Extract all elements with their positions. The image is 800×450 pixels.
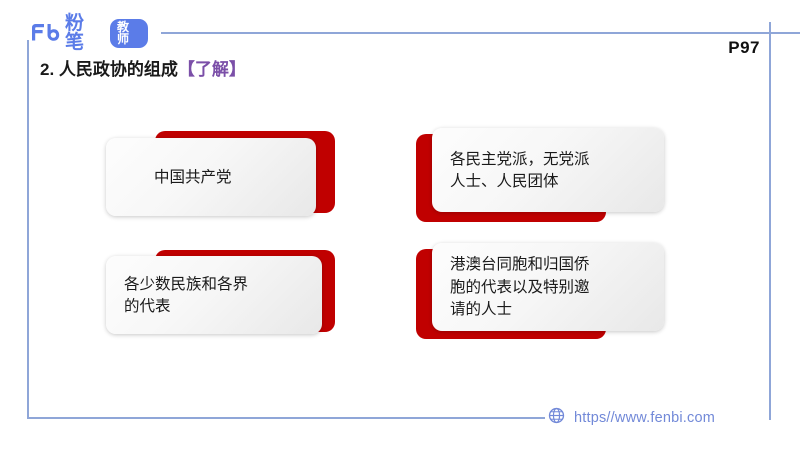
globe-icon [548,407,565,429]
brand-badge: 教师 [110,19,148,48]
title-text: 人民政协的组成 [59,60,178,79]
fb-logo-icon [30,23,60,43]
title-hint: 【了解】 [178,60,246,79]
content-box: 中国共产党 [100,128,340,228]
content-box: 各民主党派，无党派 人士、人民团体 [410,128,670,233]
content-box: 港澳台同胞和归国侨 胞的代表以及特别邀 请的人士 [410,243,675,348]
header-rule [161,32,800,34]
content-card: 中国共产党 [106,138,316,216]
frame-border-right [769,22,771,420]
footer-url[interactable]: https//www.fenbi.com [574,410,715,426]
content-card: 港澳台同胞和归国侨 胞的代表以及特别邀 请的人士 [432,243,664,331]
page-title: 2. 人民政协的组成【了解】 [40,55,246,80]
frame-border-bottom [27,417,545,419]
slide-canvas: 粉笔 教师 P97 2. 人民政协的组成【了解】 中国共产党 各民主党派，无党派… [0,0,800,450]
brand-logo: 粉笔 教师 [30,14,800,52]
footer: https//www.fenbi.com [548,407,715,429]
title-number: 2. [40,60,59,79]
content-card-text: 港澳台同胞和归国侨 胞的代表以及特别邀 请的人士 [432,253,604,320]
brand-name: 粉笔 [65,14,103,52]
content-card-text: 中国共产党 [106,166,246,188]
content-card: 各少数民族和各界 的代表 [106,256,322,334]
content-box: 各少数民族和各界 的代表 [100,248,350,348]
content-card-text: 各民主党派，无党派 人士、人民团体 [432,148,604,193]
content-card-text: 各少数民族和各界 的代表 [106,273,262,318]
content-card: 各民主党派，无党派 人士、人民团体 [432,128,664,212]
page-number: P97 [728,38,760,58]
frame-border-left [27,40,29,418]
